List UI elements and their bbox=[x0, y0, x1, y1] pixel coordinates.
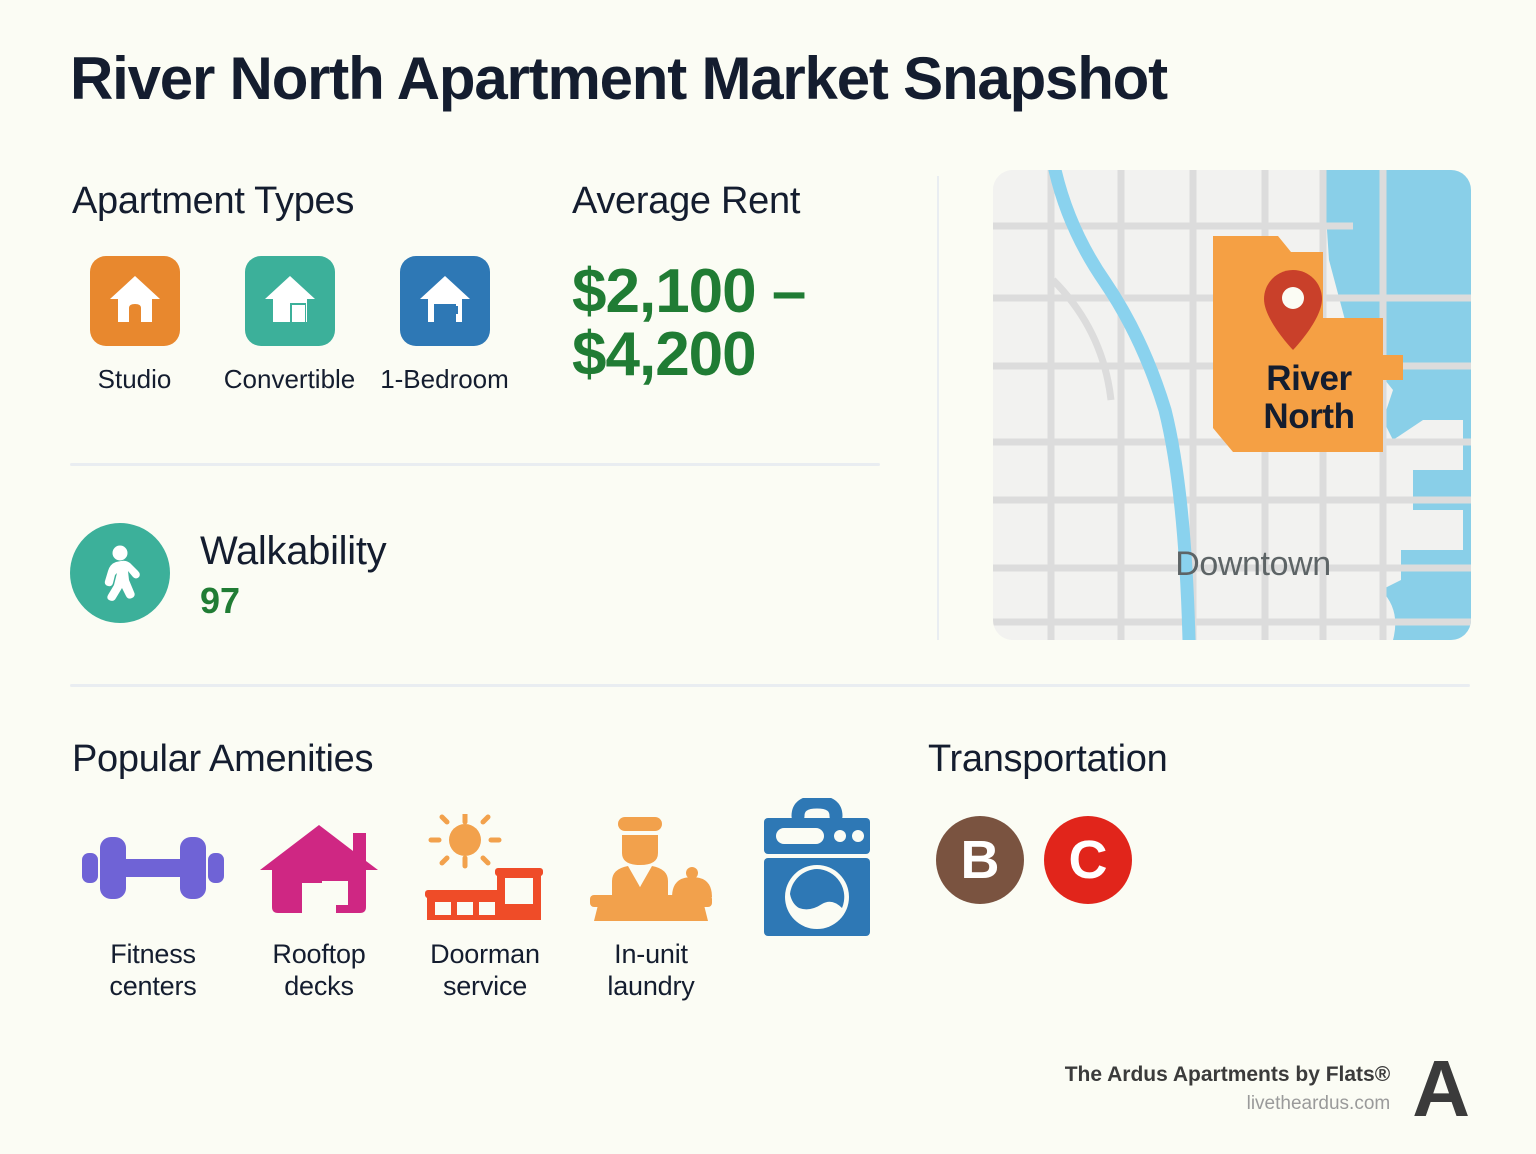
amenity-doorman-service: Doormanservice bbox=[402, 800, 568, 1003]
dumbbell-icon bbox=[82, 800, 224, 935]
divider-upper-left bbox=[70, 463, 880, 466]
apartment-type-label: Studio bbox=[98, 364, 172, 395]
apartment-type-1-bedroom: 1-Bedroom bbox=[382, 256, 507, 395]
house-icon bbox=[108, 274, 162, 329]
footer: The Ardus Apartments by Flats® livethear… bbox=[1065, 1055, 1470, 1123]
amenity-label: Rooftopdecks bbox=[272, 939, 365, 1003]
apartment-type-label: 1-Bedroom bbox=[380, 364, 509, 395]
one-bedroom-tile bbox=[400, 256, 490, 346]
apartment-types-list: Studio Convertible bbox=[72, 256, 507, 395]
house-with-partition-icon bbox=[263, 274, 317, 329]
walkability-text: Walkability 97 bbox=[200, 523, 386, 622]
footer-url[interactable]: livetheardus.com bbox=[1065, 1093, 1390, 1115]
house-with-window-icon bbox=[418, 274, 472, 329]
map-neighborhood-label: River North bbox=[1229, 360, 1389, 436]
red-line-badge[interactable]: C bbox=[1044, 816, 1132, 904]
apartment-type-convertible: Convertible bbox=[227, 256, 352, 395]
concierge-desk-icon bbox=[588, 800, 714, 935]
studio-tile bbox=[90, 256, 180, 346]
neighborhood-map[interactable]: River North Downtown bbox=[993, 170, 1471, 640]
apartment-type-studio: Studio bbox=[72, 256, 197, 395]
washing-machine-icon bbox=[754, 800, 880, 935]
walkability-label: Walkability bbox=[200, 529, 386, 574]
infographic-root: River North Apartment Market Snapshot Ap… bbox=[0, 0, 1536, 1154]
amenity-in-unit-laundry: In-unitlaundry bbox=[568, 800, 734, 1003]
brown-line-badge[interactable]: B bbox=[936, 816, 1024, 904]
amenities-heading: Popular Amenities bbox=[72, 738, 373, 781]
transit-line-letter: B bbox=[961, 829, 1000, 891]
walkability-score: 97 bbox=[200, 580, 386, 622]
map-downtown-label: Downtown bbox=[1133, 546, 1373, 583]
divider-middle bbox=[70, 684, 1470, 687]
average-rent-value: $2,100 – $4,200 bbox=[572, 260, 872, 386]
divider-vertical bbox=[937, 176, 939, 640]
amenity-washing-machine bbox=[734, 800, 900, 939]
amenity-label: Doormanservice bbox=[430, 939, 540, 1003]
amenities-list: Fitnesscenters Rooftopdecks bbox=[70, 800, 900, 1003]
amenity-rooftop-decks: Rooftopdecks bbox=[236, 800, 402, 1003]
amenity-fitness-centers: Fitnesscenters bbox=[70, 800, 236, 1003]
sun-deck-icon bbox=[419, 800, 551, 935]
walking-person-icon bbox=[70, 523, 170, 623]
ardus-logo: A bbox=[1412, 1055, 1470, 1123]
apartment-type-label: Convertible bbox=[224, 364, 356, 395]
convertible-tile bbox=[245, 256, 335, 346]
page-title: River North Apartment Market Snapshot bbox=[70, 44, 1167, 113]
walkability-section: Walkability 97 bbox=[70, 523, 386, 623]
amenity-label: Fitnesscenters bbox=[109, 939, 196, 1003]
footer-brand: The Ardus Apartments by Flats® bbox=[1065, 1063, 1390, 1087]
footer-text: The Ardus Apartments by Flats® livethear… bbox=[1065, 1063, 1390, 1115]
transit-line-letter: C bbox=[1069, 829, 1108, 891]
apartment-types-heading: Apartment Types bbox=[72, 180, 354, 223]
transportation-heading: Transportation bbox=[928, 738, 1167, 781]
house-roof-icon bbox=[258, 800, 380, 935]
average-rent-heading: Average Rent bbox=[572, 180, 800, 223]
transit-lines-list: B C bbox=[936, 816, 1132, 904]
amenity-label: In-unitlaundry bbox=[607, 939, 694, 1003]
